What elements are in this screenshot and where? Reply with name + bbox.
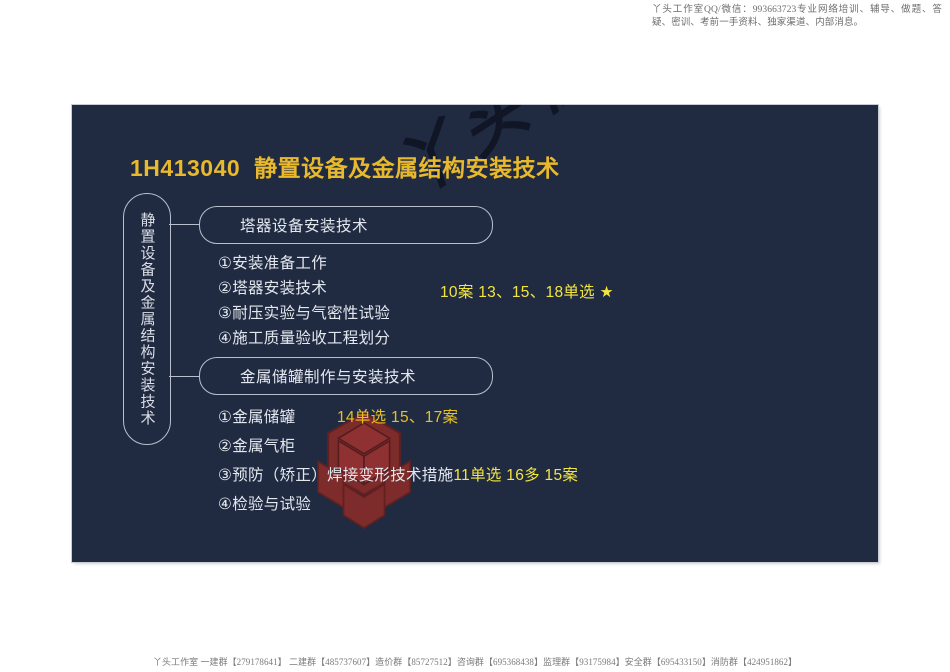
section-heading-label-1: 塔器设备安装技术 (200, 214, 368, 236)
list-item: ③耐压实验与气密性试验 (218, 299, 390, 324)
list-item-label: ②金属气柜 (218, 434, 295, 456)
slide-canvas: 丫头社微课程 1H413040静置设备及金属结构安装技术 静置设备及金属 (72, 105, 878, 562)
list-item: ④检验与试验 (218, 488, 578, 517)
section-heading-pill-1[interactable]: 塔器设备安装技术 (199, 206, 493, 244)
title-text: 静置设备及金属结构安装技术 (254, 155, 560, 181)
connector-line-section-2 (169, 376, 199, 377)
section-heading-label-2: 金属储罐制作与安装技术 (200, 365, 416, 387)
annotation-note-1: 10案 13、15、18单选 ★ (440, 280, 614, 302)
list-item-label: ①安装准备工作 (218, 251, 327, 273)
footer-promo-text: 丫头工作室 一建群【279178641】 二建群【485737607】造价群【8… (0, 656, 950, 668)
connector-line-section-1 (169, 224, 199, 225)
section-items-1: ①安装准备工作 ②塔器安装技术 ③耐压实验与气密性试验 ④施工质量验收工程划分 (218, 249, 390, 349)
list-item: ②塔器安装技术 (218, 274, 390, 299)
list-item: ④施工质量验收工程划分 (218, 324, 390, 349)
slide-content: 1H413040静置设备及金属结构安装技术 静置设备及金属结构安装技术 塔器设备… (72, 105, 878, 562)
list-item-label: ④检验与试验 (218, 492, 311, 514)
annotation-note-2: 14单选 15、17案 (337, 405, 458, 427)
list-item-label: ③耐压实验与气密性试验 (218, 301, 390, 323)
section-heading-pill-2[interactable]: 金属储罐制作与安装技术 (199, 357, 493, 395)
annotation-note-3: 11单选 16多 15案 (453, 463, 578, 485)
spine-capsule: 静置设备及金属结构安装技术 (123, 193, 171, 445)
page-title: 1H413040静置设备及金属结构安装技术 (130, 149, 560, 183)
list-item: ③预防（矫正）焊接变形技术措施11单选 16多 15案 (218, 459, 578, 488)
title-code: 1H413040 (130, 155, 240, 181)
list-item: ②金属气柜 (218, 430, 578, 459)
spine-label: 静置设备及金属结构安装技术 (124, 194, 170, 444)
list-item-label: ①金属储罐 (218, 405, 295, 427)
list-item-label: ④施工质量验收工程划分 (218, 326, 390, 348)
list-item-label: ③预防（矫正）焊接变形技术措施 (218, 463, 453, 485)
list-item-label: ②塔器安装技术 (218, 276, 327, 298)
header-promo-text: 丫头工作室QQ/微信：993663723专业网络培训、辅导、做题、答疑、密训、考… (652, 4, 942, 30)
list-item: ①安装准备工作 (218, 249, 390, 274)
